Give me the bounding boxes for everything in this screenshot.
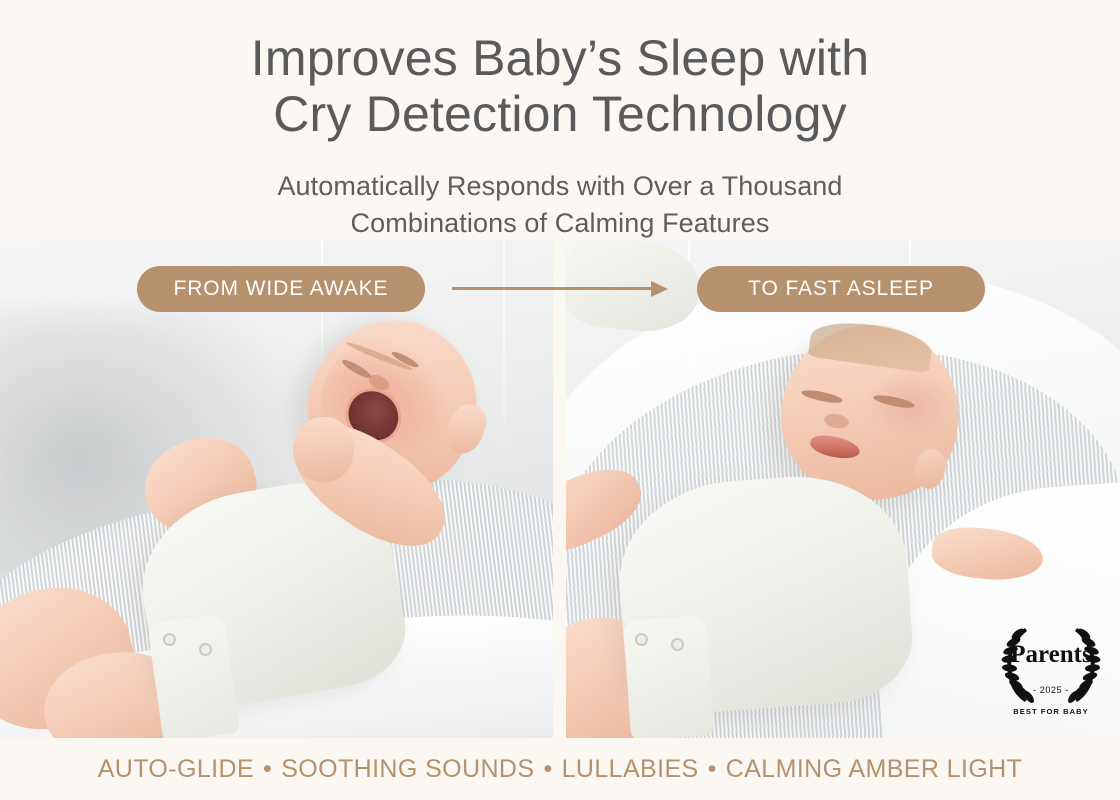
feature-item: LULLABIES [562, 755, 699, 783]
laurel-wreath-icon: Parents - 2025 - BEST FOR BABY [995, 612, 1107, 720]
panel-seam [503, 240, 505, 469]
feature-separator: • [254, 755, 281, 783]
subhead-line-1: Automatically Responds with Over a Thous… [0, 168, 1120, 205]
award-badge: Parents - 2025 - BEST FOR BABY [995, 612, 1107, 720]
arrow-shaft [452, 287, 652, 290]
badge-from-wide-awake: FROM WIDE AWAKE [137, 266, 425, 312]
award-year: - 2025 - [1033, 685, 1069, 695]
badge-to-fast-asleep: TO FAST ASLEEP [697, 266, 985, 312]
badge-to-label: TO FAST ASLEEP [748, 277, 934, 301]
award-brand: Parents [1010, 641, 1092, 668]
promo-banner: Improves Baby’s Sleep with Cry Detection… [0, 0, 1120, 800]
comparison-photos [0, 240, 1120, 738]
photo-crying-baby [0, 240, 553, 738]
arrow-head [651, 281, 668, 297]
headline-line-1: Improves Baby’s Sleep with [0, 30, 1120, 86]
feature-separator: • [534, 755, 561, 783]
headline-line-2: Cry Detection Technology [0, 86, 1120, 142]
feature-item: SOOTHING SOUNDS [281, 755, 534, 783]
badge-from-label: FROM WIDE AWAKE [174, 277, 389, 301]
bassinet-scene-awake [0, 240, 553, 738]
photo-divider [553, 240, 566, 738]
feature-bar: AUTO-GLIDE•SOOTHING SOUNDS•LULLABIES•CAL… [0, 738, 1120, 800]
subhead-line-2: Combinations of Calming Features [0, 205, 1120, 242]
feature-list: AUTO-GLIDE•SOOTHING SOUNDS•LULLABIES•CAL… [98, 755, 1023, 784]
award-caption: BEST FOR BABY [1013, 707, 1089, 716]
page-subtitle: Automatically Responds with Over a Thous… [0, 168, 1120, 242]
feature-item: AUTO-GLIDE [98, 755, 254, 783]
feature-separator: • [699, 755, 726, 783]
arrow-right-icon [452, 281, 668, 297]
page-title: Improves Baby’s Sleep with Cry Detection… [0, 30, 1120, 142]
feature-item: CALMING AMBER LIGHT [726, 755, 1023, 783]
